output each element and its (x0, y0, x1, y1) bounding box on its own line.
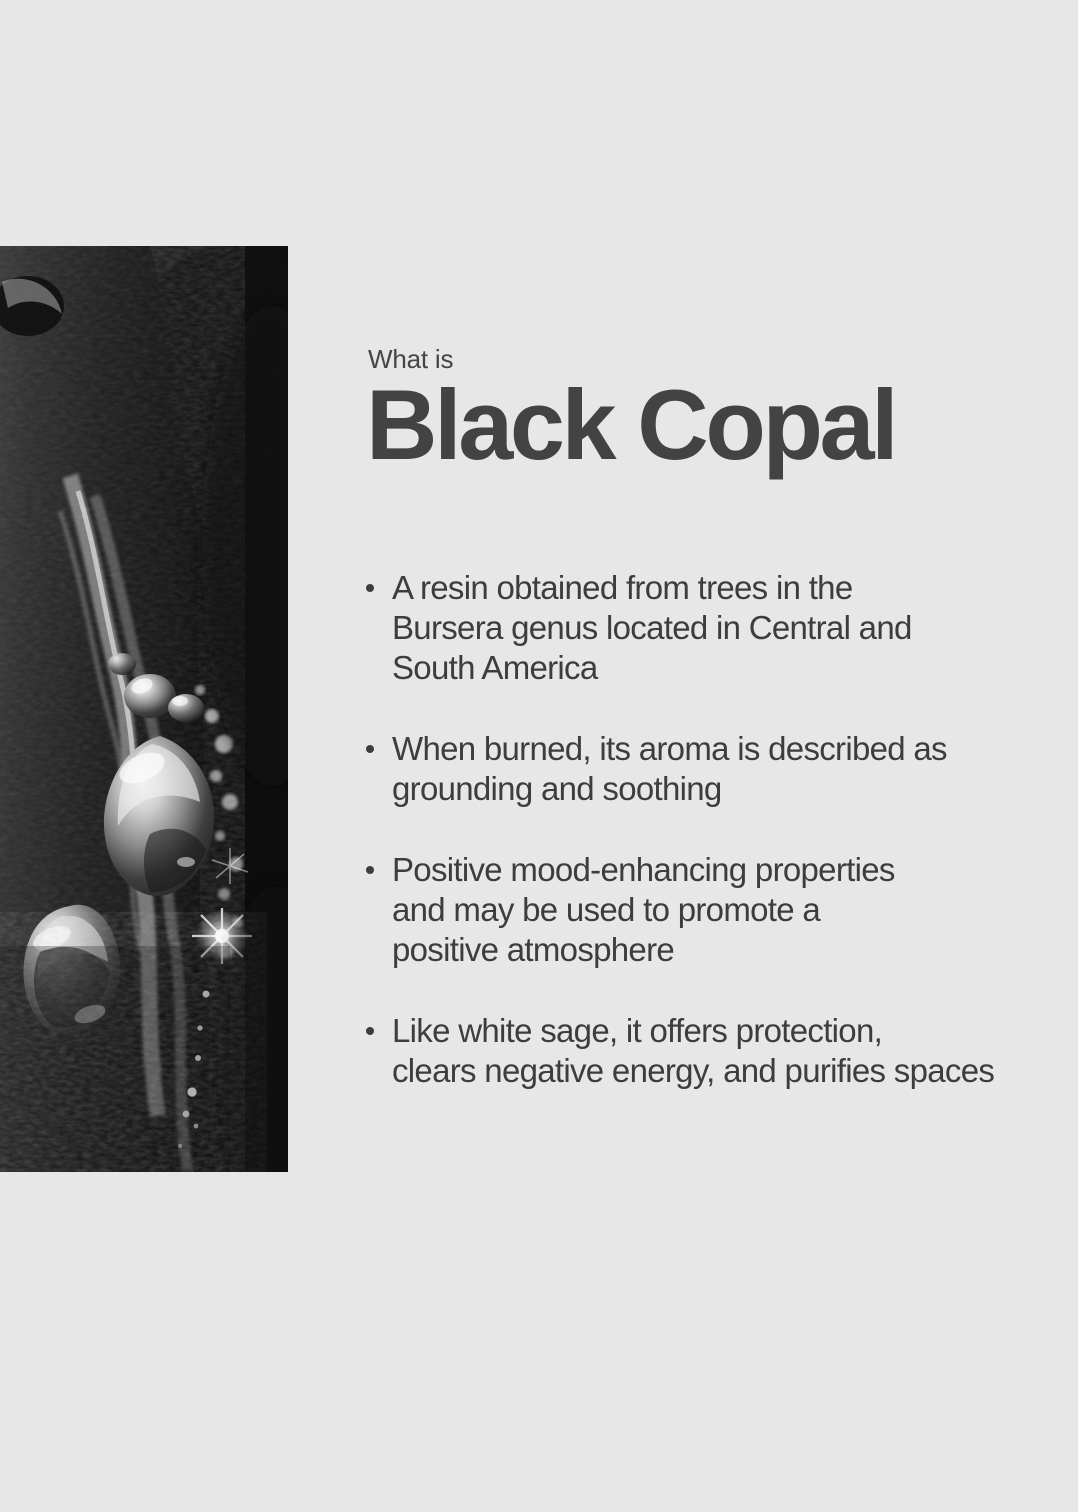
fact-list: A resin obtained from trees in the Burse… (366, 568, 1078, 1091)
list-item-text: Like white sage, it offers protection, c… (392, 1011, 1078, 1091)
list-item-text: A resin obtained from trees in the Burse… (392, 568, 1078, 688)
list-item: Like white sage, it offers protection, c… (366, 1011, 1078, 1091)
bullet-dot-icon (366, 745, 374, 753)
list-item-text: Positive mood-enhancing properties and m… (392, 850, 1078, 970)
list-item: Positive mood-enhancing properties and m… (366, 850, 1078, 970)
page-title: Black Copal (366, 375, 1066, 474)
list-item: When burned, its aroma is described as g… (366, 729, 1078, 809)
resin-photo-artwork (0, 246, 288, 1172)
bullet-dot-icon (366, 584, 374, 592)
black-copal-resin-photo (0, 246, 288, 1172)
list-item-text: When burned, its aroma is described as g… (392, 729, 1078, 809)
bullet-dot-icon (366, 866, 374, 874)
slide-root: What is Black Copal A resin obtained fro… (0, 0, 1078, 1512)
text-column: What is Black Copal A resin obtained fro… (366, 346, 1066, 474)
bullet-dot-icon (366, 1027, 374, 1035)
list-item: A resin obtained from trees in the Burse… (366, 568, 1078, 688)
